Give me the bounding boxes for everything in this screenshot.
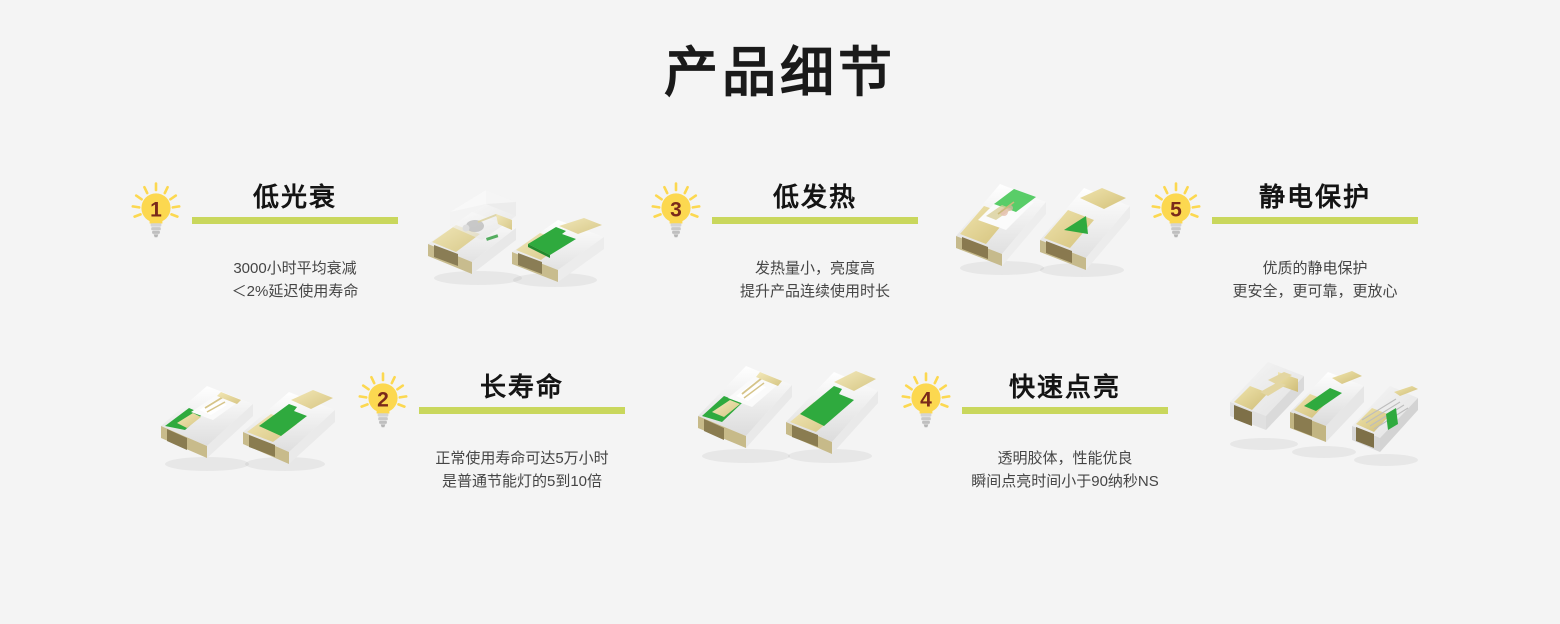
- product-photo-5: [1220, 352, 1420, 477]
- feature-2-desc-line-2: 是普通节能灯的5到10倍: [419, 470, 625, 493]
- feature-3-number: 3: [670, 198, 682, 221]
- feature-5-desc-line-1: 优质的静电保护: [1212, 257, 1418, 280]
- feature-block-5: 5 静电保护 优质的静电保护 更安全，更可靠，更放心: [1148, 180, 1418, 303]
- lightbulb-icon-2: 2: [355, 372, 411, 430]
- feature-3-description: 发热量小，亮度高 提升产品连续使用时长: [712, 257, 918, 303]
- page-title: 产品细节: [0, 42, 1560, 104]
- feature-5-head: 5 静电保护: [1148, 180, 1418, 240]
- product-photo-3: [950, 168, 1135, 288]
- feature-4-headline: 快速点亮: [962, 370, 1168, 404]
- feature-4-description: 透明胶体，性能优良 瞬间点亮时间小于90纳秒NS: [962, 447, 1168, 493]
- feature-3-underline: [712, 217, 918, 224]
- feature-5-underline: [1212, 217, 1418, 224]
- feature-2-number: 2: [377, 388, 389, 411]
- lightbulb-icon-5: 5: [1148, 182, 1204, 240]
- feature-5-desc-line-2: 更安全，更可靠，更放心: [1212, 280, 1418, 303]
- product-photo-2: [155, 368, 340, 483]
- feature-2-description: 正常使用寿命可达5万小时 是普通节能灯的5到10倍: [419, 447, 625, 493]
- feature-1-head: 1 低光衰: [128, 180, 398, 240]
- feature-3-desc-line-1: 发热量小，亮度高: [712, 257, 918, 280]
- feature-block-1: 1 低光衰 3000小时平均衰减 ＜2%延迟使用寿命: [128, 180, 398, 303]
- feature-4-head: 4 快速点亮: [898, 370, 1168, 430]
- feature-4-desc-line-1: 透明胶体，性能优良: [962, 447, 1168, 470]
- feature-2-head: 2 长寿命: [355, 370, 625, 430]
- feature-block-4: 4 快速点亮 透明胶体，性能优良 瞬间点亮时间小于90纳秒NS: [898, 370, 1168, 493]
- feature-block-3: 3 低发热 发热量小，亮度高 提升产品连续使用时长: [648, 180, 918, 303]
- feature-1-desc-line-2: ＜2%延迟使用寿命: [192, 280, 398, 303]
- product-detail-page: 产品细节: [0, 0, 1560, 624]
- feature-5-number: 5: [1170, 198, 1182, 221]
- feature-1-headline: 低光衰: [192, 180, 398, 214]
- feature-5-description: 优质的静电保护 更安全，更可靠，更放心: [1212, 257, 1418, 303]
- feature-4-desc-line-2: 瞬间点亮时间小于90纳秒NS: [962, 470, 1168, 493]
- feature-1-description: 3000小时平均衰减 ＜2%延迟使用寿命: [192, 257, 398, 303]
- lightbulb-icon-3: 3: [648, 182, 704, 240]
- feature-5-headline-wrap: 静电保护: [1212, 180, 1418, 224]
- product-photo-1: [420, 182, 610, 297]
- feature-1-desc-line-1: 3000小时平均衰减: [192, 257, 398, 280]
- feature-1-headline-wrap: 低光衰: [192, 180, 398, 224]
- lightbulb-icon-4: 4: [898, 372, 954, 430]
- feature-4-number: 4: [920, 388, 932, 411]
- feature-4-underline: [962, 407, 1168, 414]
- feature-2-headline-wrap: 长寿命: [419, 370, 625, 414]
- feature-1-number: 1: [150, 198, 162, 221]
- feature-3-head: 3 低发热: [648, 180, 918, 240]
- feature-2-underline: [419, 407, 625, 414]
- feature-2-desc-line-1: 正常使用寿命可达5万小时: [419, 447, 625, 470]
- feature-3-headline-wrap: 低发热: [712, 180, 918, 224]
- product-photo-4: [690, 352, 880, 477]
- feature-3-desc-line-2: 提升产品连续使用时长: [712, 280, 918, 303]
- feature-3-headline: 低发热: [712, 180, 918, 214]
- feature-2-headline: 长寿命: [419, 370, 625, 404]
- feature-4-headline-wrap: 快速点亮: [962, 370, 1168, 414]
- feature-5-headline: 静电保护: [1212, 180, 1418, 214]
- feature-block-2: 2 长寿命 正常使用寿命可达5万小时 是普通节能灯的5到10倍: [355, 370, 625, 493]
- lightbulb-icon-1: 1: [128, 182, 184, 240]
- feature-1-underline: [192, 217, 398, 224]
